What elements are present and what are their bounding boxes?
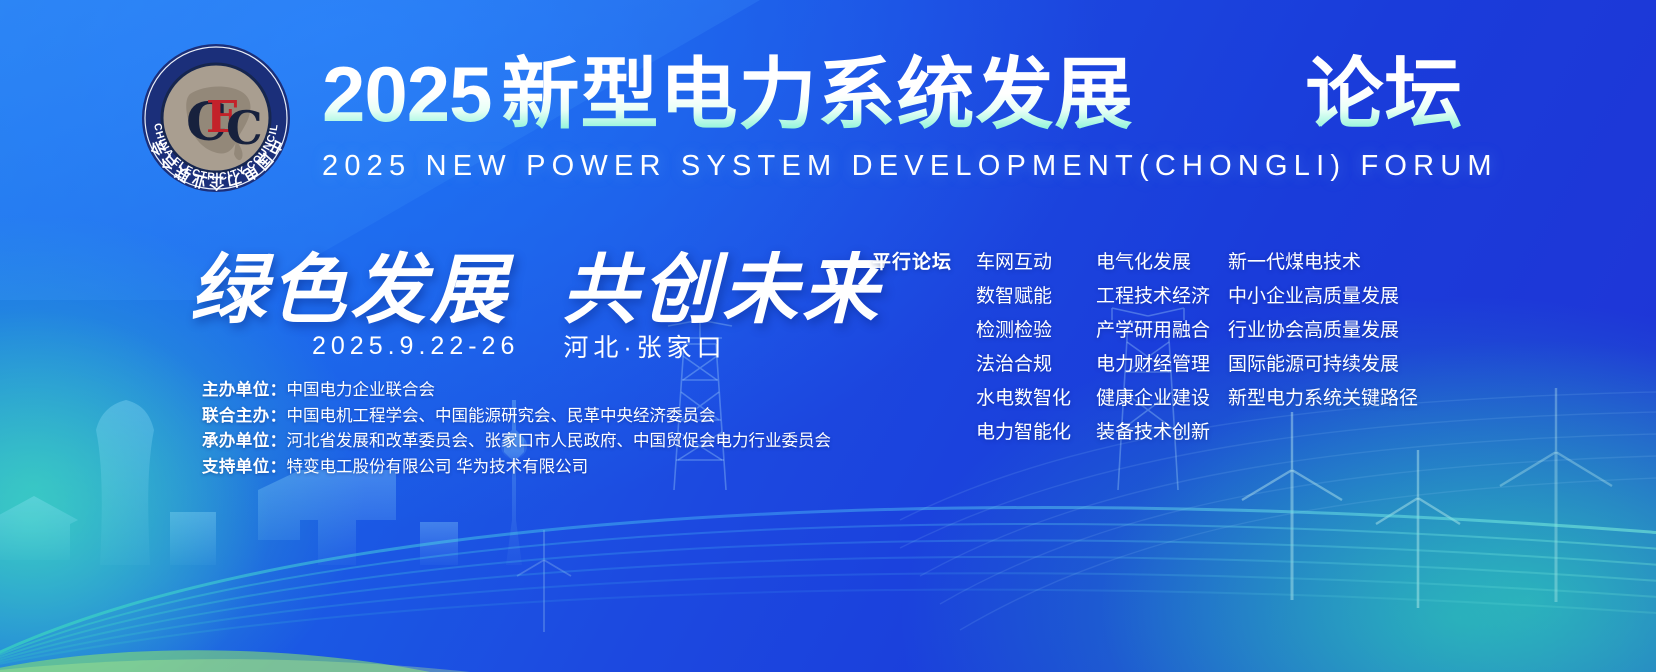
china-electricity-council-logo: C E C 中国电力企业联合会 CHINA ELECTRICITY COUNCI… xyxy=(140,42,292,194)
forum-item[interactable]: 电力财经管理 xyxy=(1096,348,1228,382)
bottom-arcs xyxy=(0,508,1656,672)
title-block: 2025新型电力系统发展崇礼论坛 2025 NEW POWER SYSTEM D… xyxy=(322,40,1498,183)
forum-item[interactable]: 工程技术经济 xyxy=(1096,280,1228,314)
parallel-forums-label: 平行论坛 xyxy=(872,246,952,280)
forum-item[interactable]: 法治合规 xyxy=(976,348,1096,382)
forum-item[interactable]: 水电数智化 xyxy=(976,382,1096,416)
event-location: 河北·张家口 xyxy=(563,328,726,364)
organizer-row: 承办单位：河北省发展和改革委员会、张家口市人民政府、中国贸促会电力行业委员会 xyxy=(202,429,831,455)
forum-column-2: 电气化发展 工程技术经济 产学研用融合 电力财经管理 健康企业建设 装备技术创新 xyxy=(1096,246,1228,450)
slogan-left: 绿色发展 xyxy=(190,245,510,334)
forum-column-3: 新一代煤电技术 中小企业高质量发展 行业协会高质量发展 国际能源可持续发展 新型… xyxy=(1228,246,1418,450)
forum-item[interactable]: 数智赋能 xyxy=(976,280,1096,314)
event-date: 2025.9.22-26 xyxy=(312,332,519,361)
title-brush-text: 崇礼 xyxy=(1134,27,1306,128)
forum-item[interactable]: 电气化发展 xyxy=(1096,246,1228,280)
organizer-value: 河北省发展和改革委员会、张家口市人民政府、中国贸促会电力行业委员会 xyxy=(287,432,832,450)
forum-item[interactable]: 国际能源可持续发展 xyxy=(1228,348,1418,382)
organizer-label: 主办单位： xyxy=(202,381,287,399)
organizer-list: 主办单位：中国电力企业联合会 联合主办：中国电机工程学会、中国能源研究会、民革中… xyxy=(202,378,831,480)
conference-banner: C E C 中国电力企业联合会 CHINA ELECTRICITY COUNCI… xyxy=(0,0,1656,672)
green-land xyxy=(0,650,430,672)
forum-item[interactable]: 新一代煤电技术 xyxy=(1228,246,1418,280)
organizer-value: 中国电机工程学会、中国能源研究会、民革中央经济委员会 xyxy=(287,407,716,425)
title-year: 2025 xyxy=(322,50,502,138)
organizer-row: 主办单位：中国电力企业联合会 xyxy=(202,378,831,404)
forum-item[interactable]: 车网互动 xyxy=(976,246,1096,280)
forum-columns: 车网互动 数智赋能 检测检验 法治合规 水电数智化 电力智能化 电气化发展 工程… xyxy=(976,246,1418,450)
forum-item[interactable]: 检测检验 xyxy=(976,314,1096,348)
organizer-row: 支持单位：特变电工股份有限公司 华为技术有限公司 xyxy=(202,455,831,481)
organizer-row: 联合主办：中国电机工程学会、中国能源研究会、民革中央经济委员会 xyxy=(202,404,831,430)
event-datebar: 2025.9.22-26 河北·张家口 xyxy=(312,328,727,364)
title-main-text: 新型电力系统发展 xyxy=(502,50,1134,138)
main-title: 2025新型电力系统发展崇礼论坛 xyxy=(322,40,1498,144)
svg-text:C: C xyxy=(226,101,263,155)
cec-emblem-icon: C E C 中国电力企业联合会 CHINA ELECTRICITY COUNCI… xyxy=(140,42,292,194)
slogan-right: 共创未来 xyxy=(562,245,882,334)
title-tail-text: 论坛 xyxy=(1306,50,1464,138)
organizer-label: 支持单位： xyxy=(202,458,287,476)
organizer-value: 中国电力企业联合会 xyxy=(287,381,436,399)
banner-header: C E C 中国电力企业联合会 CHINA ELECTRICITY COUNCI… xyxy=(0,0,1656,200)
organizer-value: 特变电工股份有限公司 华为技术有限公司 xyxy=(287,458,589,476)
forum-item[interactable]: 电力智能化 xyxy=(976,416,1096,450)
glow-left xyxy=(0,310,270,672)
forum-item[interactable]: 行业协会高质量发展 xyxy=(1228,314,1418,348)
forum-item[interactable]: 健康企业建设 xyxy=(1096,382,1228,416)
green-land-2 xyxy=(0,659,470,672)
forum-item[interactable]: 产学研用融合 xyxy=(1096,314,1228,348)
forum-column-1: 车网互动 数智赋能 检测检验 法治合规 水电数智化 电力智能化 xyxy=(976,246,1096,450)
english-subtitle: 2025 NEW POWER SYSTEM DEVELOPMENT(CHONGL… xyxy=(322,150,1498,183)
forum-item[interactable]: 中小企业高质量发展 xyxy=(1228,280,1418,314)
parallel-forums: 平行论坛 车网互动 数智赋能 检测检验 法治合规 水电数智化 电力智能化 电气化… xyxy=(872,246,1418,450)
organizer-label: 承办单位： xyxy=(202,432,287,450)
forum-item[interactable]: 装备技术创新 xyxy=(1096,416,1228,450)
slogan: 绿色发展共创未来 xyxy=(190,228,882,338)
forum-item[interactable]: 新型电力系统关键路径 xyxy=(1228,382,1418,416)
organizer-label: 联合主办： xyxy=(202,407,287,425)
